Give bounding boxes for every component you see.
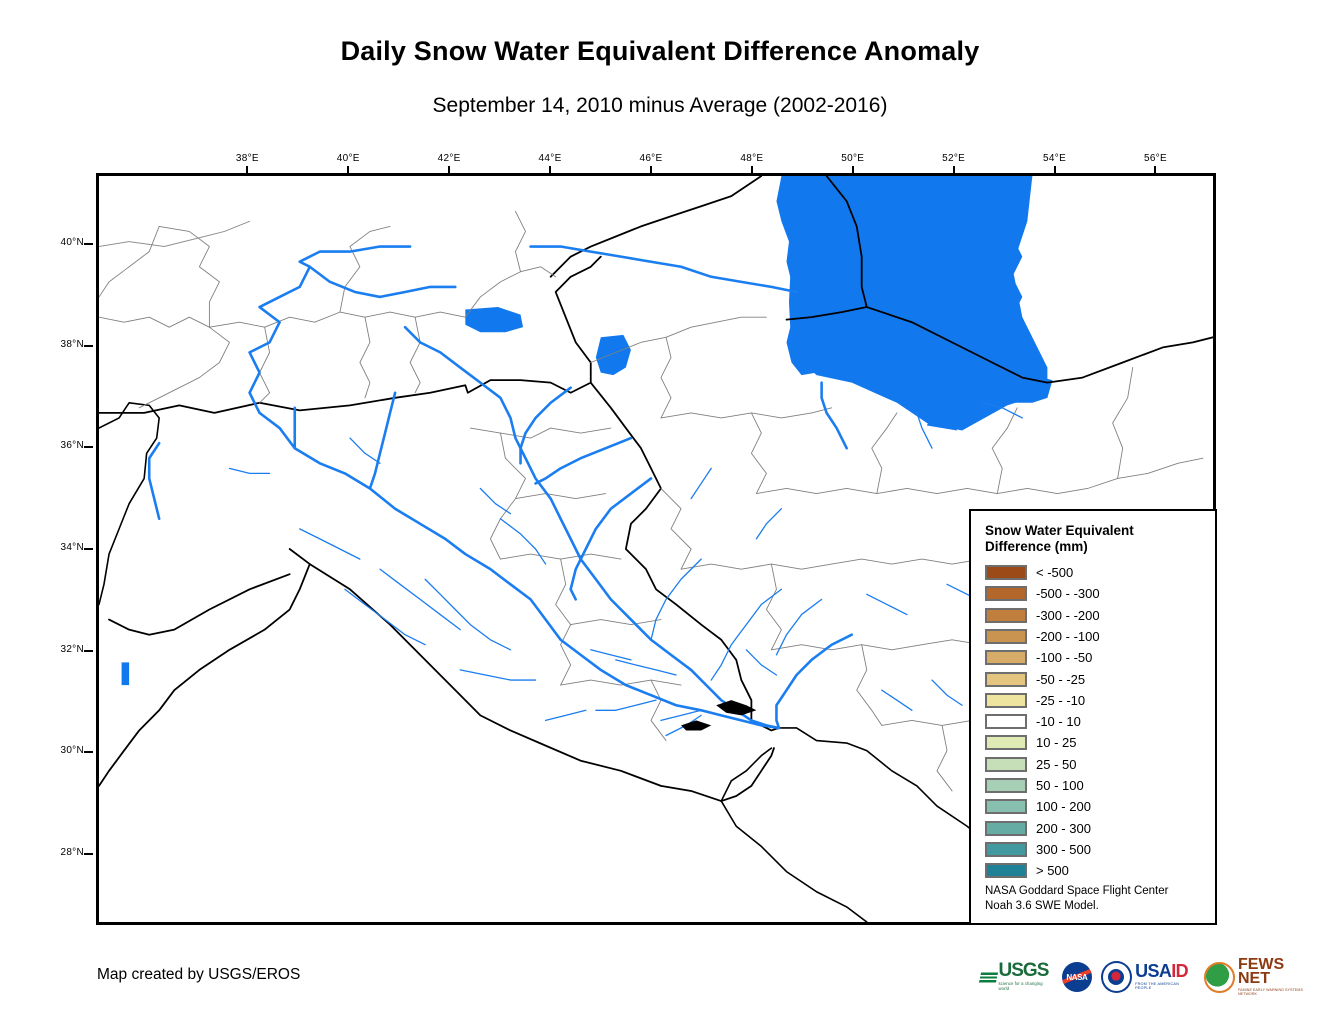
- legend-row: > 500: [985, 860, 1205, 881]
- lon-tick-label: 48°E: [722, 153, 782, 164]
- admin-boundary: [561, 625, 571, 686]
- legend-swatch: [985, 650, 1027, 665]
- usgs-waves-icon: [978, 969, 998, 986]
- admin-boundary: [571, 620, 661, 625]
- minor-river: [596, 700, 656, 710]
- nasa-meatball-icon: NASA: [1062, 962, 1092, 992]
- legend-row: 50 - 100: [985, 775, 1205, 796]
- fews-net-logo: FEWS NET FAMINE EARLY WARNING SYSTEMS NE…: [1204, 958, 1320, 996]
- admin-boundary: [882, 720, 972, 725]
- lon-tick-label: 52°E: [924, 153, 984, 164]
- legend-swatch: [985, 608, 1027, 623]
- legend-swatch: [985, 586, 1027, 601]
- admin-boundary: [470, 428, 500, 433]
- iraq-iran-border: [591, 383, 779, 731]
- legend-row: 25 - 50: [985, 754, 1205, 775]
- legend-label: > 500: [1036, 864, 1069, 877]
- minor-river: [380, 569, 460, 630]
- legend-row: -100 - -50: [985, 647, 1205, 668]
- admin-boundary: [992, 408, 1017, 494]
- minor-river: [867, 594, 907, 614]
- lat-tick-label: 40°N: [0, 237, 84, 248]
- lat-tick-label: 28°N: [0, 847, 84, 858]
- minor-river: [932, 680, 962, 705]
- legend-swatch: [985, 778, 1027, 793]
- legend-row: -50 - -25: [985, 668, 1205, 689]
- lat-tick-label: 32°N: [0, 644, 84, 655]
- legend-title-line2: Difference (mm): [985, 539, 1205, 555]
- legend-label: 50 - 100: [1036, 779, 1084, 792]
- lat-tick-mark: [84, 853, 93, 855]
- minor-river: [229, 468, 269, 473]
- legend-row: 200 - 300: [985, 818, 1205, 839]
- admin-boundary: [937, 488, 1088, 493]
- legend-label: 10 - 25: [1036, 736, 1076, 749]
- legend-title: Snow Water Equivalent Difference (mm): [985, 523, 1205, 556]
- lat-tick-label: 36°N: [0, 440, 84, 451]
- legend-row: -500 - -300: [985, 583, 1205, 604]
- minor-river: [300, 529, 360, 559]
- minor-river: [651, 559, 701, 640]
- usaid-seal-icon: [1101, 961, 1132, 993]
- admin-boundary: [651, 680, 666, 741]
- legend-label: -500 - -300: [1036, 587, 1100, 600]
- admin-boundary: [857, 645, 882, 726]
- minor-river: [691, 468, 711, 498]
- legend-swatch: [985, 629, 1027, 644]
- lat-tick-label: 38°N: [0, 339, 84, 350]
- minor-river: [350, 438, 380, 463]
- admin-boundary: [1113, 368, 1133, 479]
- lon-tick-label: 46°E: [621, 153, 681, 164]
- minor-river: [711, 589, 781, 680]
- usaid-logo-text: USAID: [1135, 964, 1195, 979]
- fews-globe-icon: [1204, 962, 1235, 993]
- legend-swatch: [985, 714, 1027, 729]
- fews-logo-subtext: FAMINE EARLY WARNING SYSTEMS NETWORK: [1238, 988, 1320, 996]
- legend-row: 300 - 500: [985, 839, 1205, 860]
- legend-swatch: [985, 799, 1027, 814]
- minor-river: [882, 690, 912, 710]
- legend-row: -10 - 10: [985, 711, 1205, 732]
- kuwait-border: [721, 748, 774, 801]
- minor-river: [460, 670, 535, 680]
- admin-boundary: [751, 413, 766, 494]
- lon-tick-label: 56°E: [1125, 153, 1185, 164]
- legend-swatch: [985, 565, 1027, 580]
- fews-logo-text: FEWS NET: [1238, 958, 1320, 987]
- admin-boundary: [766, 564, 781, 650]
- legend-swatch: [985, 735, 1027, 750]
- legend-label: -50 - -25: [1036, 673, 1085, 686]
- legend-label: -10 - 10: [1036, 715, 1081, 728]
- legend-swatch: [985, 757, 1027, 772]
- minor-river: [616, 660, 676, 675]
- hammar-marsh: [681, 720, 711, 730]
- legend-row: < -500: [985, 562, 1205, 583]
- admin-boundary: [515, 494, 605, 499]
- legend-swatch: [985, 672, 1027, 687]
- dead-sea: [122, 662, 130, 685]
- marsh-area: [716, 700, 756, 715]
- minor-river: [546, 710, 586, 720]
- map-credit: Map created by USGS/EROS: [97, 966, 300, 984]
- legend-swatch: [985, 842, 1027, 857]
- nasa-logo: NASA: [1062, 958, 1092, 996]
- admin-boundary: [1088, 458, 1203, 488]
- admin-boundary: [661, 488, 691, 569]
- legend-swatch: [985, 693, 1027, 708]
- legend-row: 100 - 200: [985, 796, 1205, 817]
- admin-boundary: [756, 488, 937, 493]
- legend-swatch: [985, 863, 1027, 878]
- page-subtitle: September 14, 2010 minus Average (2002-2…: [0, 94, 1320, 118]
- lat-tick-mark: [84, 650, 93, 652]
- usgs-logo-text: USGS: [999, 963, 1053, 979]
- usgs-logo-subtext: science for a changing world: [999, 981, 1053, 991]
- lat-tick-label: 30°N: [0, 745, 84, 756]
- legend-label: < -500: [1036, 566, 1073, 579]
- minor-river: [425, 579, 510, 650]
- nasa-logo-text: NASA: [1066, 973, 1087, 982]
- map-legend: Snow Water Equivalent Difference (mm) < …: [969, 509, 1217, 925]
- admin-boundary: [771, 645, 922, 650]
- legend-label: 200 - 300: [1036, 822, 1091, 835]
- lon-tick-label: 40°E: [318, 153, 378, 164]
- legend-label: -100 - -50: [1036, 651, 1092, 664]
- legend-source-note: NASA Goddard Space Flight Center Noah 3.…: [985, 884, 1168, 914]
- usaid-logo: USAID FROM THE AMERICAN PEOPLE: [1101, 958, 1195, 996]
- legend-label: -300 - -200: [1036, 609, 1100, 622]
- admin-boundary: [937, 725, 952, 791]
- lat-tick-mark: [84, 345, 93, 347]
- legend-title-line1: Snow Water Equivalent: [985, 523, 1205, 539]
- legend-row: -25 - -10: [985, 690, 1205, 711]
- page-title: Daily Snow Water Equivalent Difference A…: [0, 36, 1320, 67]
- admin-boundary: [551, 428, 611, 433]
- legend-row: -200 - -100: [985, 626, 1205, 647]
- iraq-saudi-border: [310, 564, 721, 801]
- admin-boundary: [556, 559, 571, 624]
- legend-label: 25 - 50: [1036, 758, 1076, 771]
- mediterranean-coast: [99, 403, 159, 605]
- legend-row: 10 - 25: [985, 732, 1205, 753]
- minor-river: [591, 650, 631, 660]
- lat-tick-mark: [84, 751, 93, 753]
- persian-gulf-coast-south: [721, 748, 867, 922]
- legend-row: -300 - -200: [985, 605, 1205, 626]
- admin-boundary: [500, 554, 620, 559]
- minor-river: [345, 589, 425, 644]
- lat-tick-mark: [84, 446, 93, 448]
- lon-tick-label: 50°E: [823, 153, 883, 164]
- legend-label: 300 - 500: [1036, 843, 1091, 856]
- minor-river: [500, 519, 545, 564]
- legend-note-line2: Noah 3.6 SWE Model.: [985, 899, 1168, 914]
- legend-swatch: [985, 821, 1027, 836]
- iran-turkmenistan-border: [1047, 337, 1213, 382]
- legend-note-line1: NASA Goddard Space Flight Center: [985, 884, 1168, 899]
- lon-tick-label: 54°E: [1025, 153, 1085, 164]
- lon-tick-label: 44°E: [520, 153, 580, 164]
- lat-tick-mark: [84, 548, 93, 550]
- legend-label: 100 - 200: [1036, 800, 1091, 813]
- lon-tick-label: 38°E: [217, 153, 277, 164]
- lat-tick-label: 34°N: [0, 542, 84, 553]
- major-river: [370, 393, 395, 489]
- iraq-syria-jordan-saudi-border: [99, 549, 310, 786]
- admin-boundary: [681, 564, 832, 569]
- major-river: [536, 438, 631, 483]
- lon-tick-label: 42°E: [419, 153, 479, 164]
- lat-tick-mark: [84, 243, 93, 245]
- agency-logo-strip: USGS science for a changing world NASA U…: [980, 956, 1320, 998]
- admin-boundary: [832, 559, 982, 564]
- legend-label: -25 - -10: [1036, 694, 1085, 707]
- minor-river: [746, 650, 776, 675]
- minor-river: [480, 488, 510, 513]
- legend-class-list: < -500-500 - -300-300 - -200-200 - -100-…: [985, 562, 1205, 881]
- major-river: [149, 443, 159, 519]
- syria-jordan-border: [109, 574, 290, 635]
- minor-river: [756, 509, 781, 539]
- usaid-logo-subtext: FROM THE AMERICAN PEOPLE: [1135, 982, 1195, 990]
- legend-label: -200 - -100: [1036, 630, 1100, 643]
- usgs-logo: USGS science for a changing world: [980, 958, 1053, 996]
- admin-boundary: [490, 499, 515, 560]
- major-river: [571, 478, 651, 599]
